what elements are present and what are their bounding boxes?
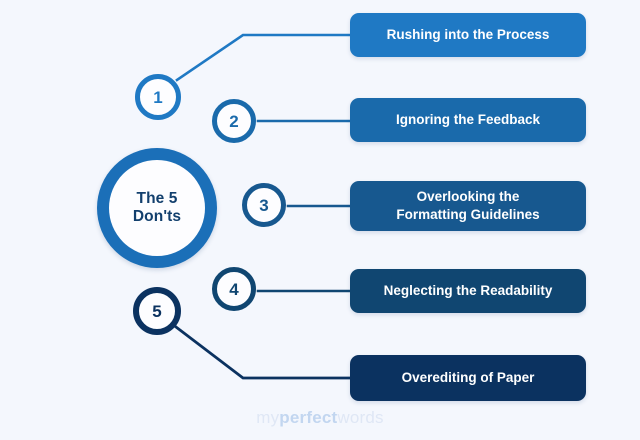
- infographic-canvas: The 5 Don'ts 1 2 3 4 5 Rushing into the …: [0, 0, 640, 440]
- step-number-5: 5: [152, 303, 161, 320]
- step-label-box-1[interactable]: Rushing into the Process: [350, 13, 586, 57]
- step-label-text-2: Ignoring the Feedback: [396, 111, 540, 129]
- step-label-box-5[interactable]: Overediting of Paper: [350, 355, 586, 401]
- center-hub: The 5 Don'ts: [97, 148, 217, 268]
- step-label-box-4[interactable]: Neglecting the Readability: [350, 269, 586, 313]
- step-number-2: 2: [229, 113, 238, 130]
- step-label-box-2[interactable]: Ignoring the Feedback: [350, 98, 586, 142]
- step-number-1: 1: [153, 89, 162, 106]
- step-label-box-3[interactable]: Overlooking the Formatting Guidelines: [350, 181, 586, 231]
- center-hub-title-line1: The 5: [137, 190, 178, 208]
- brand-watermark: myperfectwords: [0, 408, 640, 428]
- step-label-text-1: Rushing into the Process: [387, 26, 550, 44]
- center-hub-inner: The 5 Don'ts: [109, 160, 205, 256]
- watermark-part-my: my: [256, 408, 279, 427]
- step-circle-5[interactable]: 5: [133, 287, 181, 335]
- step-label-text-3: Overlooking the: [417, 189, 520, 204]
- watermark-part-words: words: [337, 408, 383, 427]
- step-number-4: 4: [229, 281, 238, 298]
- step-circle-3[interactable]: 3: [242, 183, 286, 227]
- center-hub-title-line2: Don'ts: [133, 208, 181, 226]
- step-circle-4[interactable]: 4: [212, 267, 256, 311]
- step-label-text-5: Overediting of Paper: [402, 369, 535, 387]
- step-number-3: 3: [259, 197, 268, 214]
- step-label-text-4: Neglecting the Readability: [384, 282, 553, 300]
- watermark-part-perfect: perfect: [279, 408, 337, 427]
- step-label-text-3-line2: Formatting Guidelines: [396, 207, 539, 222]
- step-circle-1[interactable]: 1: [135, 74, 181, 120]
- step-circle-2[interactable]: 2: [212, 99, 256, 143]
